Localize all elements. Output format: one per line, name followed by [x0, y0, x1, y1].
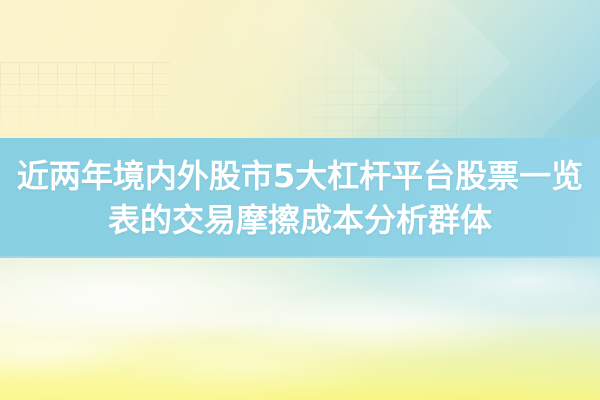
- spreadsheet-grid-texture: [300, 0, 600, 160]
- spreadsheet-grid-texture-secondary: [0, 62, 170, 140]
- title-band: 近两年境内外股市5大杠杆平台股票一览表的交易摩擦成本分析群体: [0, 138, 600, 258]
- banner-title: 近两年境内外股市5大杠杆平台股票一览表的交易摩擦成本分析群体: [0, 154, 600, 242]
- banner: 近两年境内外股市5大杠杆平台股票一览表的交易摩擦成本分析群体: [0, 0, 600, 400]
